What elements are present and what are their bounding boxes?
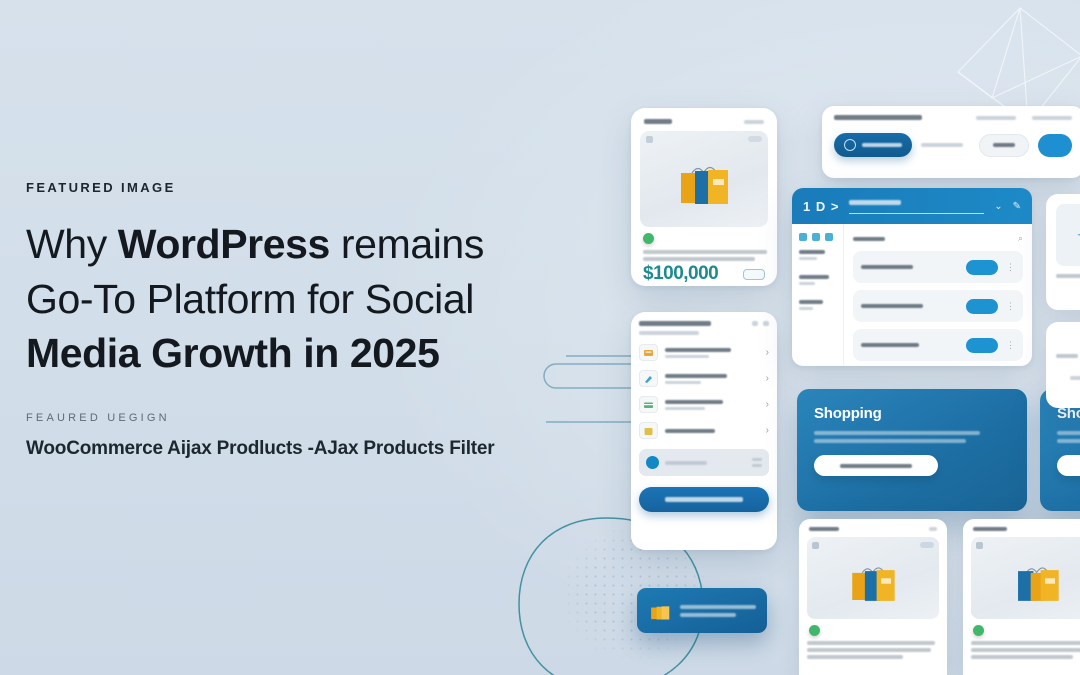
back-icon[interactable]: [976, 542, 983, 549]
product-card-meta: [744, 120, 764, 124]
chevron-right-icon: ›: [766, 425, 769, 436]
product-card-title: [973, 527, 1007, 531]
icon-action-button[interactable]: [1038, 134, 1072, 157]
toolbar-actions[interactable]: [834, 133, 1072, 157]
shopping-bags-icon: [673, 159, 735, 205]
product-card-header: [640, 117, 768, 124]
dashboard-header: 1 D > ⌄ ✎: [792, 188, 1032, 224]
toolbar-inline-label: [921, 143, 963, 147]
box-icon: [639, 422, 658, 439]
product-image: [971, 537, 1080, 619]
pencil-icon: [639, 370, 658, 387]
search-icon[interactable]: ⌕: [1018, 233, 1023, 244]
secondary-action-button[interactable]: [979, 134, 1029, 157]
headline-line-3: Media Growth in 2025: [26, 326, 546, 381]
table-row[interactable]: ⋮: [853, 290, 1023, 322]
text-column: FEATURED IMAGE Why WordPress remains Go-…: [26, 180, 546, 381]
dashboard-panel[interactable]: 1 D > ⌄ ✎: [792, 188, 1032, 366]
table-row[interactable]: ⋮: [853, 329, 1023, 361]
top-toolbar[interactable]: [822, 106, 1080, 178]
more-icon[interactable]: ⋮: [1006, 340, 1015, 351]
headline-line-2: Go-To Platform for Social: [26, 272, 546, 327]
product-price: $100,000: [643, 263, 718, 285]
edge-card-thumbnail: [1056, 204, 1080, 266]
headline-emphasis: WordPress: [118, 221, 330, 267]
status-badge: [643, 233, 654, 244]
page-title: Why WordPress remains Go-To Platform for…: [26, 217, 546, 381]
chevron-down-icon[interactable]: ⌄: [994, 201, 1002, 212]
row-label: [861, 265, 913, 269]
sidebar-icon-group[interactable]: [799, 233, 836, 241]
list-card-header: [639, 321, 769, 326]
primary-action-button[interactable]: [834, 133, 912, 157]
list-item-text: [665, 374, 727, 384]
search-input[interactable]: [639, 449, 769, 476]
product-description: [971, 641, 1080, 659]
notification-card[interactable]: [637, 588, 767, 633]
product-card-header: [971, 527, 1080, 531]
list-item[interactable]: ›: [639, 370, 769, 387]
list-card-actions[interactable]: [752, 321, 769, 326]
status-badge: [809, 625, 820, 636]
edge-card[interactable]: [1046, 322, 1080, 408]
sidebar-item[interactable]: [799, 300, 836, 310]
headline-line-1: Why WordPress remains: [26, 217, 546, 272]
list-card[interactable]: › › ›: [631, 312, 777, 550]
dashboard-list-header: ⌕: [853, 233, 1023, 244]
sidebar-item[interactable]: [799, 250, 836, 260]
product-card-footer: $100,000: [640, 263, 768, 285]
back-icon[interactable]: [646, 136, 653, 143]
row-label: [861, 304, 923, 308]
minimize-icon[interactable]: [752, 321, 758, 326]
promo-body: [814, 431, 1010, 443]
row-action-button[interactable]: [966, 299, 998, 314]
card-icon: [639, 396, 658, 413]
promo-cta-button[interactable]: [814, 455, 938, 476]
shopping-bags-icon: [648, 600, 672, 622]
input-controls[interactable]: [752, 458, 762, 467]
chevron-right-icon: ›: [766, 373, 769, 384]
sub-headline: WooCommerce Aijax Prodlucts -AJax Produc…: [26, 438, 494, 460]
sub-eyebrow-label: FEAURED UEGIGN: [26, 412, 170, 424]
search-avatar-icon: [646, 456, 659, 469]
dashboard-search-input[interactable]: [849, 199, 984, 214]
chevron-right-icon: ›: [766, 399, 769, 410]
toolbar-meta: [976, 116, 1072, 120]
promo-heading: Shopping: [814, 405, 1010, 422]
status-badge: [973, 625, 984, 636]
more-icon[interactable]: [929, 527, 937, 531]
toolbar-title-row: [834, 115, 1072, 120]
promo-cta-button[interactable]: [1057, 455, 1080, 476]
list-item[interactable]: ›: [639, 344, 769, 361]
back-icon[interactable]: [812, 542, 819, 549]
row-action-button[interactable]: [966, 338, 998, 353]
document-icon: [639, 344, 658, 361]
sidebar-item[interactable]: [799, 275, 836, 285]
row-action-button[interactable]: [966, 260, 998, 275]
list-item[interactable]: ›: [639, 396, 769, 413]
add-to-cart-button[interactable]: [743, 269, 765, 280]
product-card-header: [807, 527, 939, 531]
shopping-bags-icon: [1009, 560, 1065, 602]
list-item-text: [665, 400, 723, 410]
list-item-text: [665, 429, 715, 433]
edit-icon[interactable]: ✎: [1013, 201, 1021, 212]
list-card-title: [639, 321, 711, 326]
list-item-text: [665, 348, 731, 358]
list-item[interactable]: ›: [639, 422, 769, 439]
dashboard-brand: 1 D >: [803, 199, 839, 214]
more-icon[interactable]: ⋮: [1006, 301, 1015, 312]
search-placeholder: [665, 461, 707, 465]
paper-plane-icon: [1076, 226, 1080, 244]
close-icon[interactable]: [763, 321, 769, 326]
dashboard-main: ⌕ ⋮ ⋮ ⋮: [844, 224, 1032, 366]
product-card-title: [809, 527, 839, 531]
image-tag: [748, 136, 762, 142]
product-card[interactable]: [963, 519, 1080, 675]
product-card[interactable]: $100,000: [631, 108, 777, 286]
featured-image-canvas: FEATURED IMAGE Why WordPress remains Go-…: [0, 0, 1080, 675]
list-card-subtitle: [639, 331, 699, 335]
lock-icon[interactable]: [812, 233, 820, 241]
dashboard-body: ⌕ ⋮ ⋮ ⋮: [792, 224, 1032, 366]
product-card[interactable]: [799, 519, 947, 675]
notification-text: [680, 605, 756, 617]
headline-text: Why: [26, 221, 118, 267]
clock-icon[interactable]: [825, 233, 833, 241]
shop-now-button[interactable]: [639, 487, 769, 512]
headline-text: remains: [330, 221, 484, 267]
edge-card-row: [1056, 350, 1080, 362]
eyebrow-label: FEATURED IMAGE: [26, 180, 546, 195]
row-label: [861, 343, 919, 347]
toolbar-title: [834, 115, 922, 120]
promo-body: [1057, 431, 1080, 443]
table-row[interactable]: ⋮: [853, 251, 1023, 283]
upload-icon[interactable]: [799, 233, 807, 241]
more-icon[interactable]: ⋮: [1006, 262, 1015, 273]
shopping-bags-icon: [845, 560, 901, 602]
clock-icon: [844, 139, 856, 151]
dashboard-list-title: [853, 237, 885, 241]
chevron-right-icon: ›: [766, 347, 769, 358]
promo-banner[interactable]: Shopping: [797, 389, 1027, 511]
product-description: [807, 641, 939, 659]
product-description: [640, 250, 768, 261]
product-image: [807, 537, 939, 619]
dashboard-sidebar[interactable]: [792, 224, 844, 366]
product-card-title: [644, 119, 672, 124]
product-image: [640, 131, 768, 227]
image-tag: [920, 542, 934, 548]
edge-card[interactable]: [1046, 194, 1080, 310]
